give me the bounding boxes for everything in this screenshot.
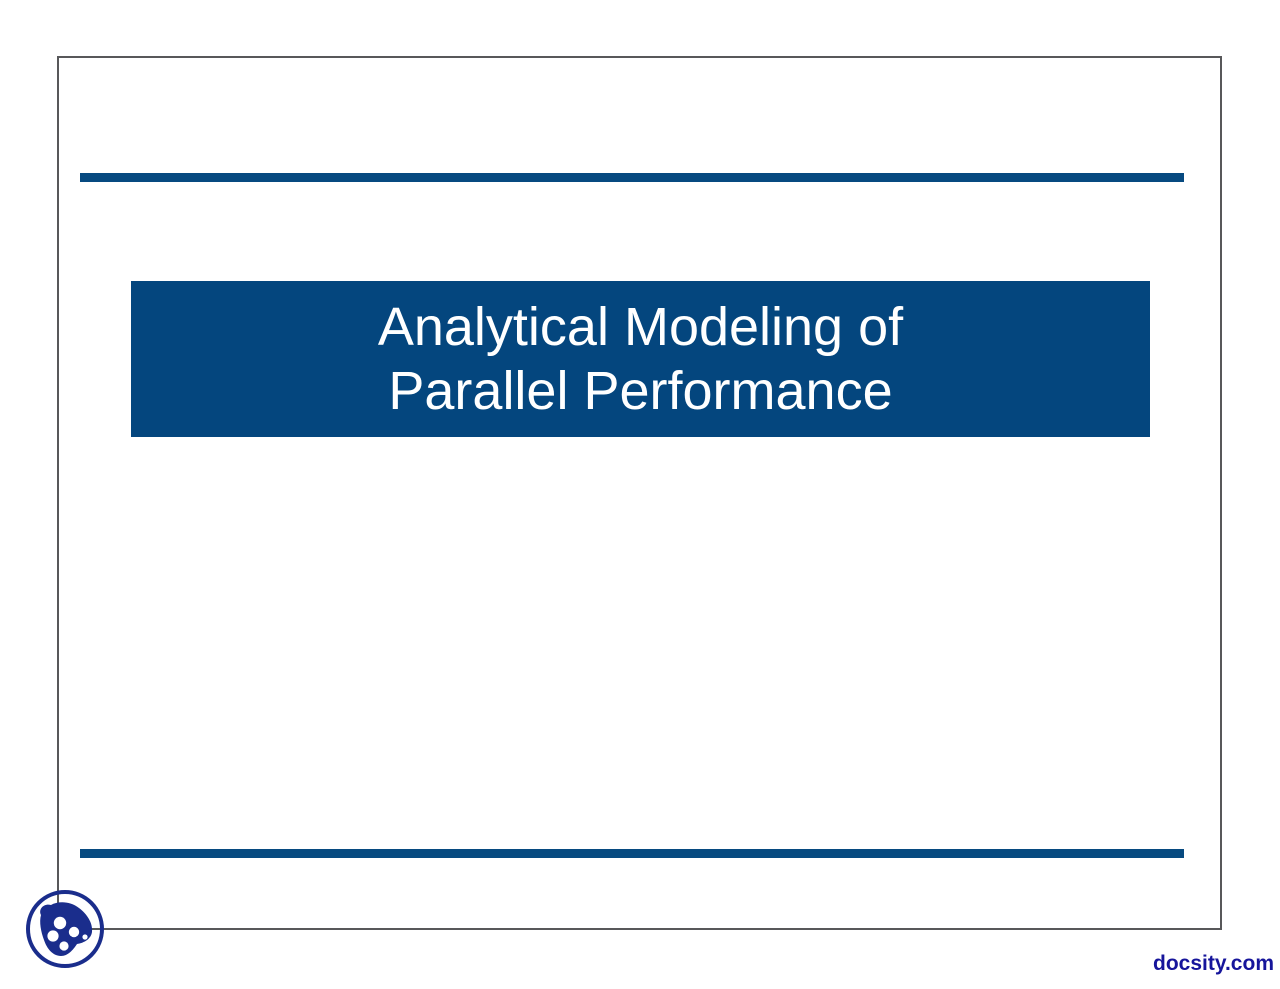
top-divider [80, 173, 1184, 182]
slide-page: Analytical Modeling of Parallel Performa… [0, 0, 1280, 989]
footer-brand: docsity.com [1114, 952, 1274, 976]
title-banner: Analytical Modeling of Parallel Performa… [131, 281, 1150, 437]
bottom-divider [80, 849, 1184, 858]
slide-frame [57, 56, 1222, 930]
docsity-logo [24, 884, 106, 974]
page-title: Analytical Modeling of Parallel Performa… [378, 295, 903, 423]
docsity-logo-icon [24, 884, 106, 974]
